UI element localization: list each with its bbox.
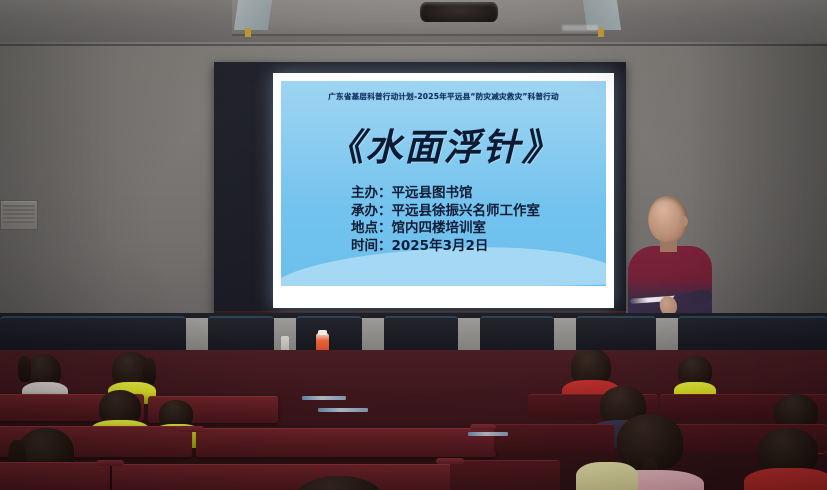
slide-header-text: 广东省基层科普行动计划-2025年平远县“防灾减灾救灾”科普行动 <box>281 91 606 102</box>
child-torso <box>744 468 827 490</box>
bench-row-3 <box>0 462 110 490</box>
child-ponytail <box>143 358 156 386</box>
slide-info-block: 主办：平远县图书馆 承办：平远县徐振兴名师工作室 地点：馆内四楼培训室 时间：2… <box>351 185 540 255</box>
bench-row-2 <box>196 428 496 457</box>
bench-row-3 <box>450 460 560 490</box>
slide-info-row: 地点：馆内四楼培训室 <box>351 220 540 238</box>
wall-shadow-left <box>0 42 120 342</box>
child-ponytail <box>18 356 31 382</box>
slide-info-value: 平远县图书馆 <box>392 185 473 201</box>
ceiling-bracket-left <box>245 28 251 37</box>
bench-armrest <box>436 458 464 464</box>
presentation-slide: 广东省基层科普行动计划-2025年平远县“防灾减灾救灾”科普行动 《水面浮针》 … <box>273 73 614 308</box>
bench-armrest <box>178 426 204 432</box>
slide-canvas: 广东省基层科普行动计划-2025年平远县“防灾减灾救灾”科普行动 《水面浮针》 … <box>281 81 606 286</box>
desk-nameplate <box>468 432 508 436</box>
child-cream-top <box>576 454 632 490</box>
lecture-hall-scene: 广东省基层科普行动计划-2025年平远县“防灾减灾救灾”科普行动 《水面浮针》 … <box>0 0 827 490</box>
slide-info-label: 主办： <box>351 185 392 203</box>
bench-row-3 <box>112 464 452 490</box>
ceiling-panel-left <box>234 0 272 30</box>
slide-info-row: 承办：平远县徐振兴名师工作室 <box>351 203 540 221</box>
child-torso <box>576 462 638 490</box>
slide-info-row: 时间：2025年3月2日 <box>351 238 540 256</box>
bench-armrest <box>96 460 124 466</box>
ceiling-logo-mark <box>562 25 598 31</box>
audience-seating-area <box>0 350 827 490</box>
ceiling-bracket-right <box>598 28 604 37</box>
presenter-ear <box>680 216 688 227</box>
ceiling-recess-fixture <box>420 2 498 22</box>
slide-info-value: 2025年3月2日 <box>392 238 489 254</box>
desk-nameplate <box>318 408 368 412</box>
child-hair <box>296 476 382 490</box>
child-foreground-head <box>296 476 382 490</box>
slide-info-row: 主办：平远县图书馆 <box>351 185 540 203</box>
water-bottle-cap <box>318 330 327 335</box>
slide-info-label: 地点： <box>351 220 392 238</box>
bench-armrest <box>470 424 496 430</box>
slide-info-label: 时间： <box>351 238 392 256</box>
slide-info-value: 馆内四楼培训室 <box>392 220 487 236</box>
child-red-foreground-right <box>752 428 822 490</box>
slide-info-label: 承办： <box>351 203 392 221</box>
slide-info-value: 平远县徐振兴名师工作室 <box>392 203 541 219</box>
desk-nameplate <box>302 396 346 400</box>
bench-row-2 <box>494 424 614 453</box>
slide-title: 《水面浮针》 <box>281 117 606 171</box>
ceiling-valance <box>232 0 604 36</box>
